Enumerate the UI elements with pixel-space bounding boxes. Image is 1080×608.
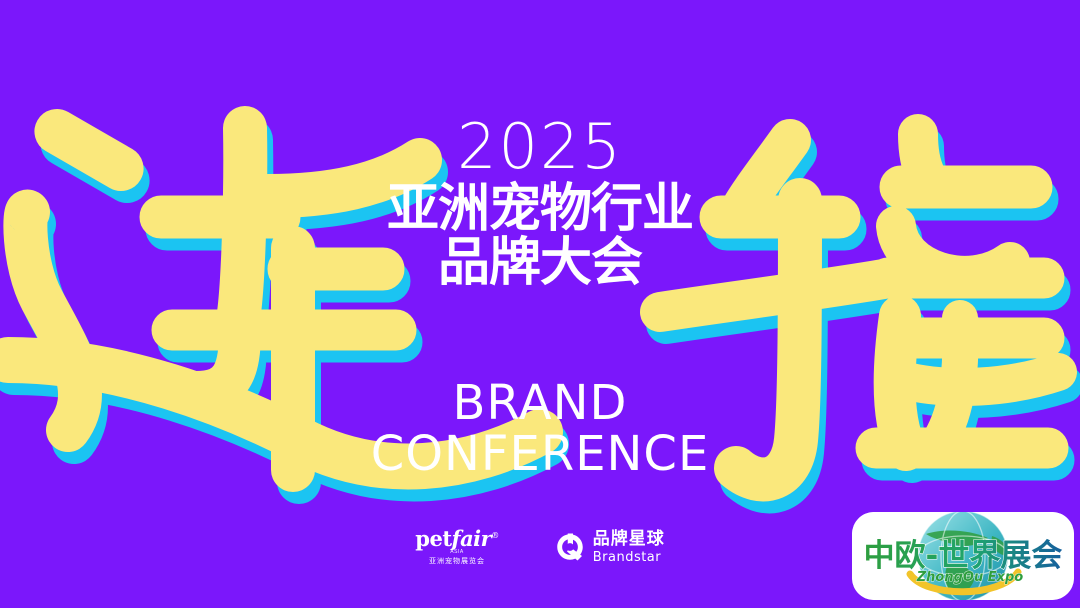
year-label: 2025 — [0, 116, 1080, 178]
poster-canvas: 2025 亚洲宠物行业 品牌大会 BRAND CONFERENCE petfai… — [0, 0, 1080, 608]
petfair-word-pet: pet — [415, 526, 451, 551]
title-en-line-1: BRAND — [0, 378, 1080, 428]
petfair-word-fair: fair — [452, 526, 492, 551]
expo-badge-graphics: 中欧-世界展会 ZhongOu Expo — [852, 512, 1074, 600]
expo-cn-title: 中欧-世界展会 — [864, 538, 1063, 574]
brandstar-text: 品牌星球 Brandstar — [593, 530, 665, 564]
petfair-micro-text: ASIA — [450, 550, 463, 555]
petfair-subtitle: 亚洲宠物展览会 — [429, 558, 485, 565]
brandstar-logo: 品牌星球 Brandstar — [555, 530, 665, 564]
brandstar-circle-icon — [555, 532, 585, 562]
brandstar-cn-name: 品牌星球 — [593, 530, 665, 547]
expo-en-title: ZhongOu Expo — [916, 570, 1024, 585]
brandstar-en-name: Brandstar — [593, 551, 665, 564]
title-cn-line-1: 亚洲宠物行业 — [0, 182, 1080, 236]
petfair-logo: petfair® ASIA 亚洲宠物展览会 — [415, 528, 498, 565]
petfair-wordmark: petfair® — [415, 528, 498, 549]
title-cn-line-2: 品牌大会 — [0, 236, 1080, 290]
registered-mark-icon: ® — [491, 531, 499, 540]
expo-badge[interactable]: 中欧-世界展会 ZhongOu Expo — [852, 512, 1074, 600]
title-en-line-2: CONFERENCE — [0, 428, 1080, 480]
